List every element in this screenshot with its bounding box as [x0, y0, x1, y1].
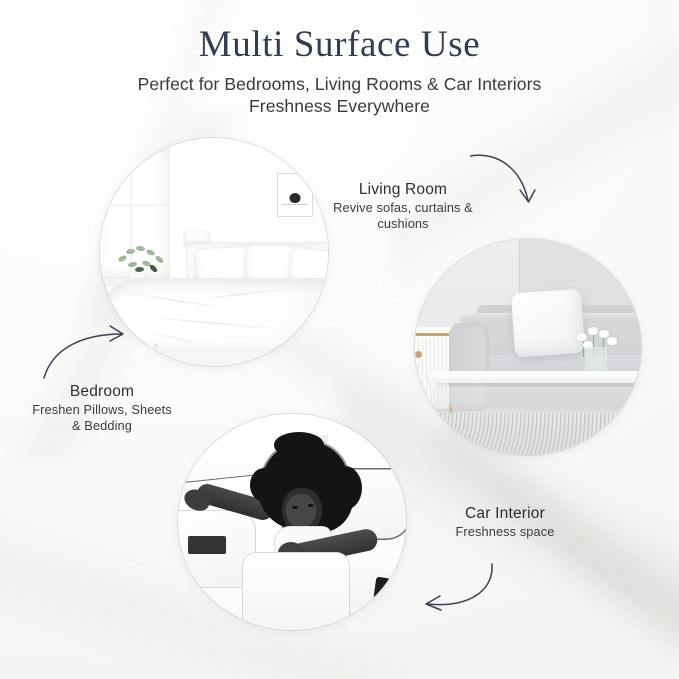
bedroom-label-description: Freshen Pillows, Sheets & Bedding	[9, 402, 195, 434]
bedroom-desc-line-1: Freshen Pillows, Sheets	[32, 402, 172, 417]
art-vase-shape	[290, 193, 301, 203]
living-room-label: Living Room Revive sofas, curtains & cus…	[318, 180, 488, 232]
infographic-canvas: Multi Surface Use Perfect for Bedrooms, …	[0, 0, 679, 679]
bedroom-label: Bedroom Freshen Pillows, Sheets & Beddin…	[9, 382, 195, 434]
car-interior-photo-circle	[178, 414, 406, 630]
duvet-crease	[117, 291, 236, 311]
coffee-table-top	[429, 371, 641, 383]
plant-leaf	[136, 245, 146, 251]
bedroom-scene	[100, 138, 328, 366]
bedroom-photo-circle	[100, 138, 328, 366]
duvet-crease	[194, 289, 283, 301]
person-hair	[328, 466, 362, 510]
art-shelf-line	[282, 204, 308, 205]
living-room-label-description: Revive sofas, curtains & cushions	[318, 200, 488, 232]
person-hair	[250, 468, 278, 502]
living-room-label-title: Living Room	[318, 180, 488, 199]
bedroom-label-title: Bedroom	[9, 382, 195, 401]
bedroom-floor	[100, 348, 328, 366]
subtitle-line-2: Freshness Everywhere	[0, 95, 679, 117]
car-interior-scene	[178, 414, 406, 630]
car-door-handle	[188, 536, 226, 554]
page-title: Multi Surface Use	[0, 22, 679, 68]
duvet-crease	[138, 316, 278, 329]
person-face-highlight	[286, 494, 316, 528]
shag-rug	[415, 413, 641, 455]
plant-leaf	[135, 267, 144, 273]
car-interior-label-description: Freshness space	[422, 524, 588, 540]
car-interior-label: Car Interior Freshness space	[422, 504, 588, 540]
plant-leaf	[145, 248, 155, 256]
car-interior-label-title: Car Interior	[422, 504, 588, 523]
living-room-scene	[415, 239, 641, 455]
flower-bloom	[588, 327, 598, 335]
flower-bloom	[607, 337, 617, 345]
plant-leaf	[126, 248, 136, 254]
cabinet-gold-knob	[415, 351, 422, 358]
living-room-desc-line-2: cushions	[377, 216, 428, 231]
header: Multi Surface Use Perfect for Bedrooms, …	[0, 22, 679, 117]
page-subtitle: Perfect for Bedrooms, Living Rooms & Car…	[0, 73, 679, 117]
cabinet-gold-knob	[415, 381, 422, 388]
sofa-throw-pillow	[511, 289, 585, 358]
plant-leaf	[154, 255, 164, 264]
car-seat-front	[242, 552, 350, 630]
bedroom-desc-line-2: & Bedding	[72, 418, 132, 433]
car-interior-desc-line-1: Freshness space	[456, 524, 555, 539]
living-room-photo-circle	[415, 239, 641, 455]
person-eye	[308, 504, 314, 507]
flower-bloom	[577, 333, 587, 341]
living-room-desc-line-1: Revive sofas, curtains &	[333, 200, 473, 215]
plant-leaf	[149, 264, 159, 274]
window-mullion	[100, 204, 170, 206]
framed-art	[278, 174, 312, 216]
person-eye	[292, 506, 298, 509]
flower-bloom	[599, 330, 609, 338]
car-seat-shadow	[372, 577, 399, 614]
potted-plant	[116, 246, 172, 282]
plant-leaf	[117, 254, 127, 263]
subtitle-line-1: Perfect for Bedrooms, Living Rooms & Car…	[138, 74, 542, 94]
coffee-table-glass	[433, 387, 641, 413]
person-hair	[274, 432, 324, 458]
